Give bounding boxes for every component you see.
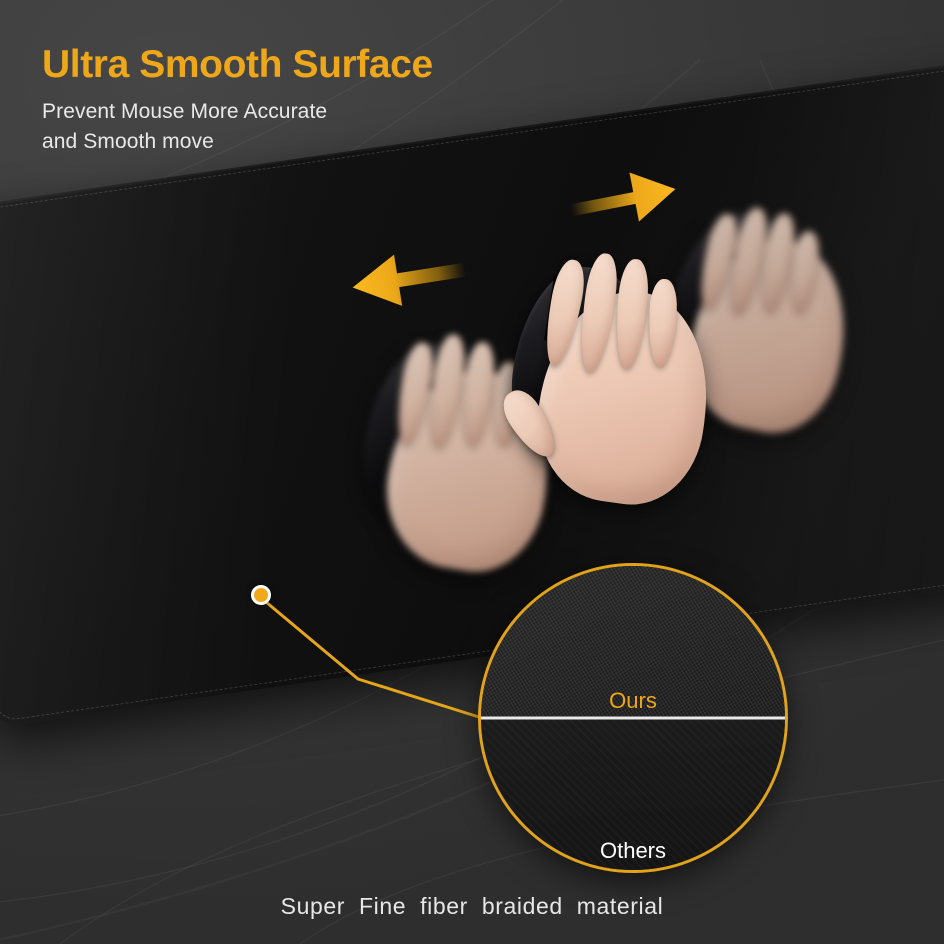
material-caption: Super Fine fiber braided material [0, 893, 944, 920]
subtitle-line-2: and Smooth move [42, 127, 327, 157]
page-title: Ultra Smooth Surface [42, 44, 433, 85]
texture-divider-line [481, 717, 785, 720]
label-ours: Ours [481, 688, 785, 714]
page-subtitle: Prevent Mouse More Accurate and Smooth m… [42, 97, 327, 157]
arrow-left-icon [344, 248, 468, 310]
hand-main-center [505, 255, 725, 515]
product-marketing-image: Ultra Smooth Surface Prevent Mouse More … [0, 0, 944, 944]
callout-dot [251, 585, 271, 605]
label-others: Others [481, 838, 785, 864]
subtitle-line-1: Prevent Mouse More Accurate [42, 97, 327, 127]
material-zoom-inset: Ours Others [478, 563, 788, 873]
